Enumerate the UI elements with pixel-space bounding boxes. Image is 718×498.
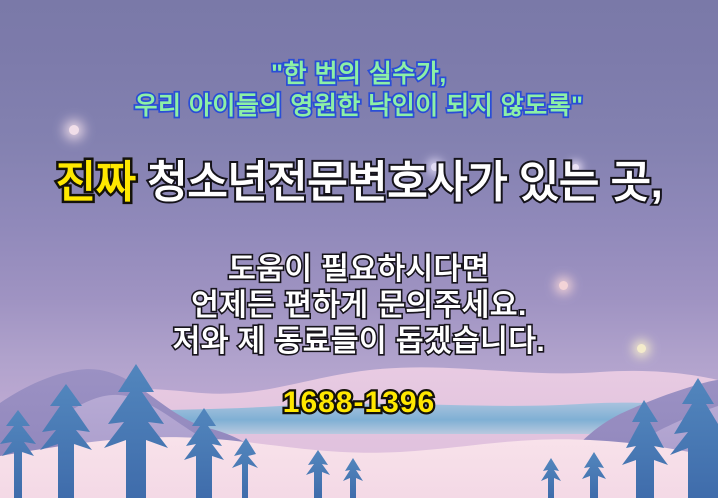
body-line-2: 언제든 편하게 문의주세요.	[0, 288, 718, 324]
body-message: 도움이 필요하시다면 언제든 편하게 문의주세요. 저와 제 동료들이 돕겠습니…	[0, 252, 718, 360]
page-title: 진짜 청소년전문변호사가 있는 곳,	[0, 156, 718, 210]
quote-block: "한 번의 실수가, 우리 아이들의 영원한 낙인이 되지 않도록"	[0, 58, 718, 122]
body-line-1: 도움이 필요하시다면	[0, 252, 718, 288]
quote-line-1: "한 번의 실수가,	[0, 58, 718, 90]
headline-rest: 청소년전문변호사가 있는 곳,	[136, 158, 663, 207]
phone-number[interactable]: 1688-1396	[0, 386, 718, 420]
poster-text-content: "한 번의 실수가, 우리 아이들의 영원한 낙인이 되지 않도록" 진짜 청소…	[0, 0, 718, 498]
body-line-3: 저와 제 동료들이 돕겠습니다.	[0, 324, 718, 360]
poster-canvas: "한 번의 실수가, 우리 아이들의 영원한 낙인이 되지 않도록" 진짜 청소…	[0, 0, 718, 498]
quote-line-2: 우리 아이들의 영원한 낙인이 되지 않도록"	[0, 90, 718, 122]
headline-highlight: 진짜	[56, 158, 136, 207]
